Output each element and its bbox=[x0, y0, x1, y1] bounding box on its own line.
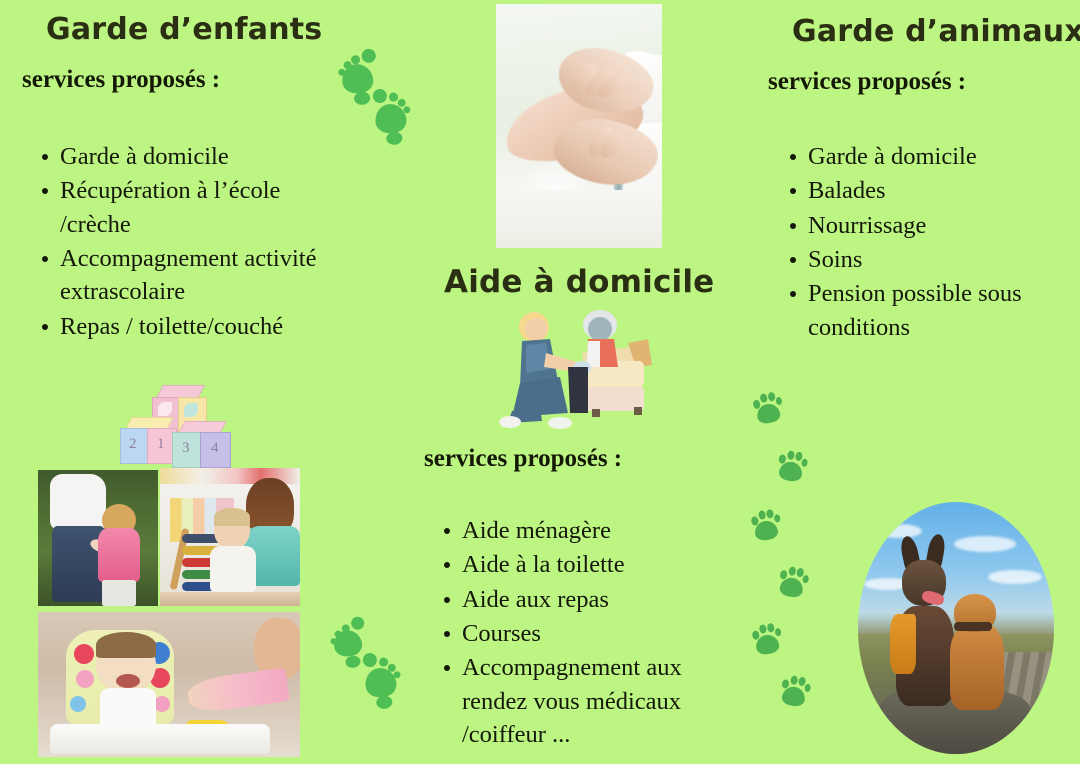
left-column-title: Garde d’enfants bbox=[46, 12, 322, 47]
toy-block-number: 4 bbox=[211, 440, 219, 457]
list-item: Pension possible sous conditions bbox=[786, 277, 1076, 344]
photo-baby-highchair bbox=[38, 612, 300, 757]
center-column-service-list: Aide ménagère Aide à la toilette Aide au… bbox=[440, 514, 740, 752]
photo-abacus-play bbox=[160, 468, 300, 606]
toy-block-left: 2 1 bbox=[120, 417, 176, 465]
center-column-title: Aide à domicile bbox=[444, 264, 714, 300]
toy-block-number: 3 bbox=[182, 440, 190, 457]
caregiver-illustration bbox=[496, 305, 666, 445]
list-item: Récupération à l’école /crèche bbox=[38, 174, 338, 241]
poster-canvas: Garde d’enfants services proposés : Gard… bbox=[0, 0, 1080, 764]
toy-block-number: 2 bbox=[129, 436, 137, 453]
list-item: Courses bbox=[440, 617, 740, 650]
list-item: Balades bbox=[786, 174, 1076, 207]
right-column-subhead: services proposés : bbox=[768, 68, 966, 96]
list-item: Aide à la toilette bbox=[440, 548, 740, 581]
list-item: Garde à domicile bbox=[786, 140, 1076, 173]
footprints-top-decoration bbox=[338, 50, 418, 150]
toy-block-number: 1 bbox=[157, 436, 165, 453]
list-item: Accompagnement activité extrascolaire bbox=[38, 242, 338, 309]
toy-blocks-illustration: 2 1 3 4 bbox=[120, 385, 232, 467]
right-column-title: Garde d’animaux bbox=[792, 14, 1080, 49]
photo-elderly-hands bbox=[496, 4, 662, 248]
list-item: Aide ménagère bbox=[440, 514, 740, 547]
list-item: Soins bbox=[786, 243, 1076, 276]
footprints-bottom-decoration bbox=[330, 618, 410, 718]
center-column-subhead: services proposés : bbox=[424, 445, 622, 473]
list-item: Aide aux repas bbox=[440, 583, 740, 616]
left-column-service-list: Garde à domicile Récupération à l’école … bbox=[38, 140, 338, 344]
list-item: Repas / toilette/couché bbox=[38, 310, 338, 343]
list-item: Garde à domicile bbox=[38, 140, 338, 173]
list-item: Accompagnement aux rendez vous médicaux … bbox=[440, 651, 740, 751]
left-column-subhead: services proposés : bbox=[22, 66, 220, 94]
photo-two-dogs bbox=[858, 502, 1054, 754]
list-item: Nourrissage bbox=[786, 209, 1076, 242]
photo-school-walk bbox=[38, 470, 158, 606]
right-column-service-list: Garde à domicile Balades Nourrissage Soi… bbox=[786, 140, 1076, 345]
toy-block-right: 3 4 bbox=[172, 421, 230, 469]
